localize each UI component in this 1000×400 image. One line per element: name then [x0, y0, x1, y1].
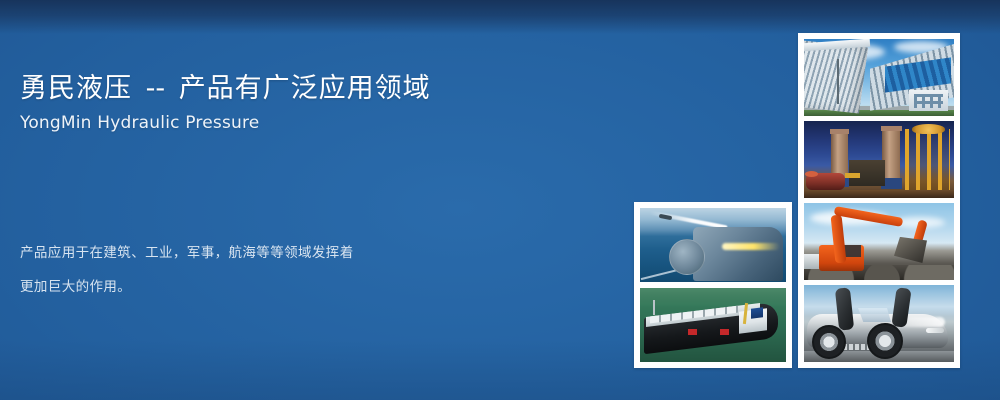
photo-concept-sports-car[interactable] — [804, 285, 954, 362]
background-top-shade — [0, 0, 1000, 34]
gallery-left-column — [634, 202, 792, 368]
demolition-grapple — [894, 237, 927, 263]
smokestack-1-cap — [830, 129, 850, 134]
body-copy-line-1: 产品应用于在建筑、工业，军事，航海等等领域发挥着 — [20, 236, 450, 270]
building-low-block — [909, 90, 948, 112]
smokestack-2-cap — [881, 126, 902, 131]
brand-subtitle-en: YongMin Hydraulic Pressure — [20, 110, 580, 136]
headline: 勇民液压 -- 产品有广泛应用领域 — [20, 72, 580, 106]
plant-ground — [804, 190, 954, 198]
deck-equipment-red-1 — [688, 329, 697, 335]
brand-title-cn: 勇民液压 — [20, 73, 132, 104]
headline-separator: -- — [142, 73, 170, 104]
car-wheel-front — [867, 323, 903, 359]
car-windshield — [858, 308, 891, 322]
photo-excavator-demolition[interactable] — [804, 203, 954, 280]
car-headlight — [926, 328, 944, 333]
promo-banner: 勇民液压 -- 产品有广泛应用领域 YongMin Hydraulic Pres… — [0, 0, 1000, 400]
body-copy: 产品应用于在建筑、工业，军事，航海等等领域发挥着 更加巨大的作用。 — [20, 236, 450, 304]
bow-mast — [653, 300, 655, 315]
car-wheel-rear — [812, 325, 846, 359]
body-copy-line-2: 更加巨大的作用。 — [20, 270, 450, 304]
photo-exhibition-building[interactable] — [804, 39, 954, 116]
photo-naval-missile-launcher[interactable] — [640, 208, 786, 282]
gallery-right-column — [798, 33, 960, 368]
ship-funnel — [751, 307, 763, 318]
deck-equipment-red-2 — [720, 329, 729, 335]
pipe-rig — [905, 129, 950, 191]
plant-yellow-gantry — [845, 173, 860, 178]
headline-tagline-cn: 产品有广泛应用领域 — [179, 73, 431, 104]
photo-cargo-ship[interactable] — [640, 288, 786, 362]
photo-petrochemical-plant[interactable] — [804, 121, 954, 198]
lamp-post — [837, 59, 839, 104]
launch-flash — [722, 243, 780, 250]
launcher-drum — [669, 239, 705, 275]
rig-lamp — [912, 124, 945, 134]
text-column: 勇民液压 -- 产品有广泛应用领域 YongMin Hydraulic Pres… — [20, 72, 580, 136]
missile-launcher — [693, 227, 784, 280]
